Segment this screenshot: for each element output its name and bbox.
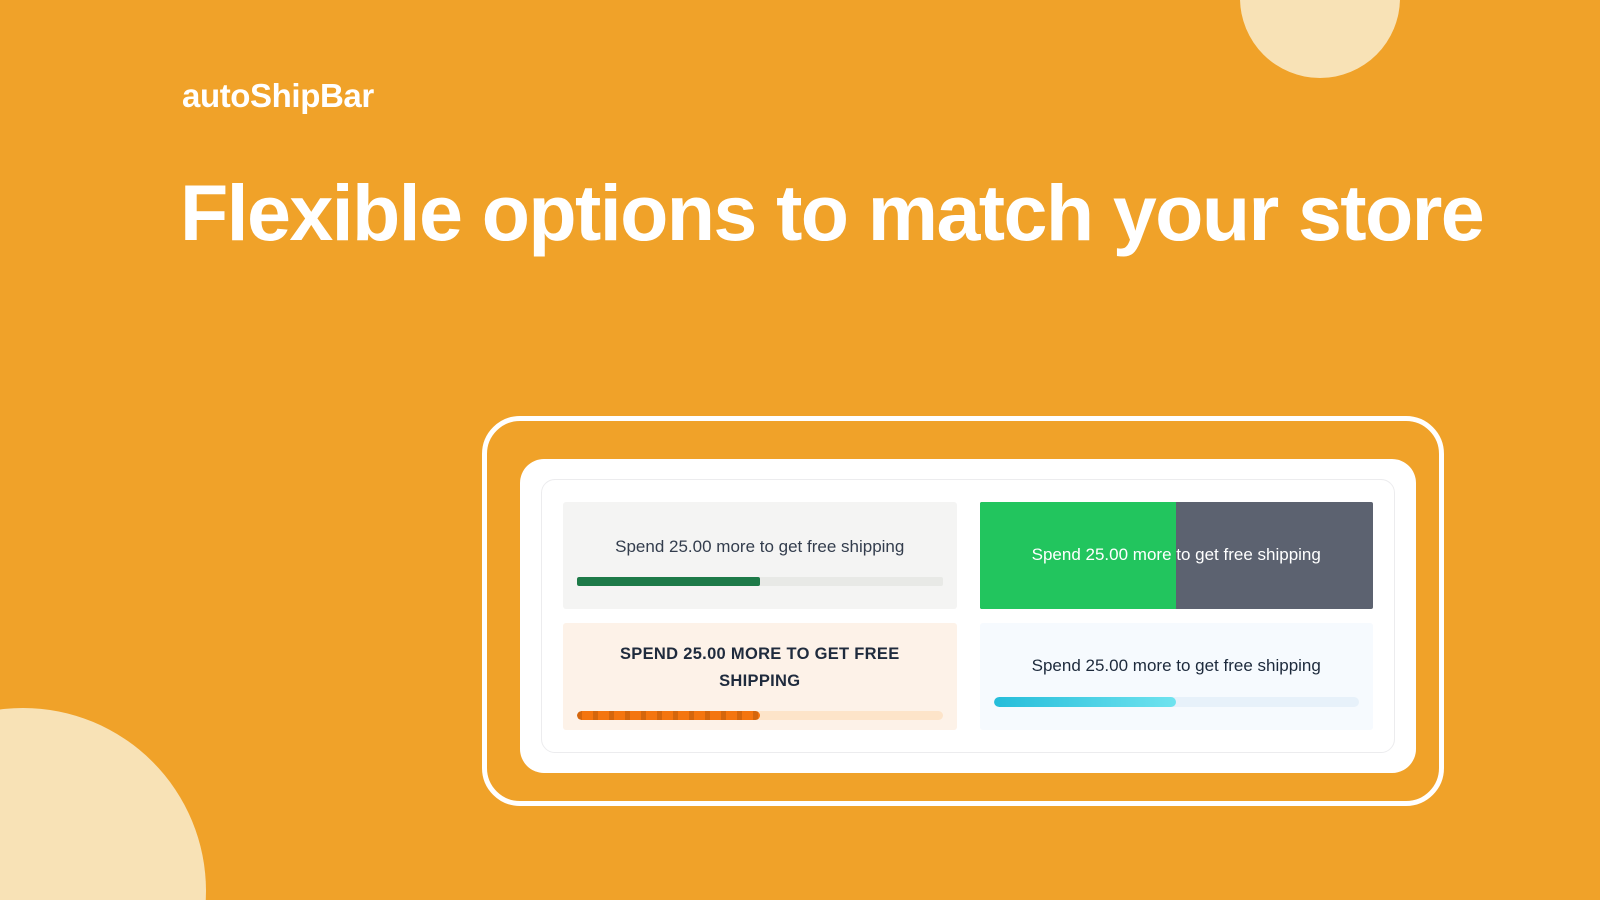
shipping-bar-variant-plain-grey[interactable]: Spend 25.00 more to get free shipping [563, 502, 957, 609]
shipping-bar-variant-striped-orange[interactable]: Spend 25.00 more to get free shipping [563, 623, 957, 730]
progress-fill [577, 577, 760, 586]
preview-frame-outer: Spend 25.00 more to get free shipping Sp… [482, 416, 1444, 806]
brand-logo-text: autoShipBar [182, 78, 374, 114]
progress-fill [577, 711, 760, 720]
progress-track [577, 577, 943, 586]
shipping-bar-message: Spend 25.00 more to get free shipping [563, 641, 957, 695]
shipping-bar-message: Spend 25.00 more to get free shipping [980, 541, 1374, 569]
page-title: Flexible options to match your store [180, 168, 1500, 258]
shipping-bar-variant-cyan-gradient[interactable]: Spend 25.00 more to get free shipping [980, 623, 1374, 730]
preview-panel: Spend 25.00 more to get free shipping Sp… [520, 459, 1416, 773]
progress-fill [994, 697, 1177, 707]
shipping-bar-variant-full-bleed-split[interactable]: Spend 25.00 more to get free shipping [980, 502, 1374, 609]
shipping-bar-message: Spend 25.00 more to get free shipping [563, 533, 957, 561]
shipping-bar-variant-grid: Spend 25.00 more to get free shipping Sp… [563, 502, 1373, 730]
preview-inner-container: Spend 25.00 more to get free shipping Sp… [541, 479, 1395, 753]
decorative-circle-bottom-left [0, 708, 206, 900]
progress-track [994, 697, 1360, 707]
shipping-bar-message: Spend 25.00 more to get free shipping [980, 652, 1374, 680]
decorative-circle-top-right [1240, 0, 1400, 78]
progress-track [577, 711, 943, 720]
